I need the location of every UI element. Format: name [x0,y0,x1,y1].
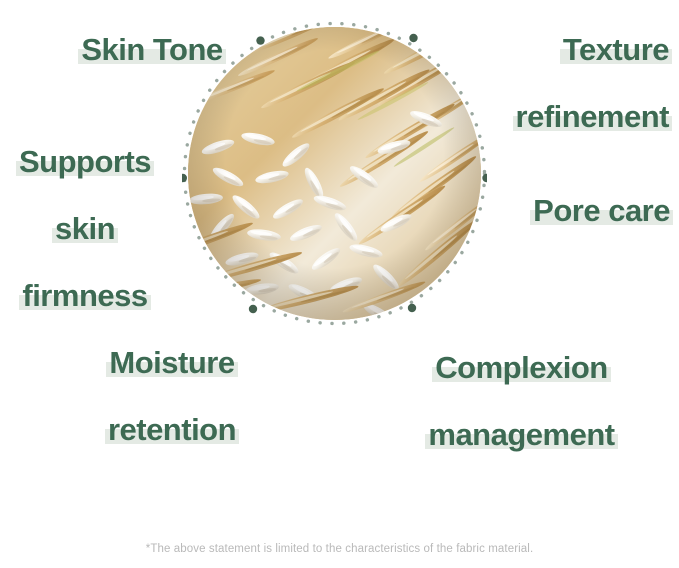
benefit-line: Complexion [432,351,610,384]
benefit-line: Moisture [106,346,237,379]
benefit-label-skin-tone: Skin Tone [52,0,252,100]
benefit-label-moisture-retention: Moisture retention [80,313,264,480]
benefit-label-pore-care: Pore care [470,161,673,261]
benefit-label-complexion-management: Complexion management [405,318,638,485]
benefit-line: retention [105,413,239,446]
benefit-line: Texture [560,33,672,66]
benefit-line: Supports [16,145,154,178]
benefit-line: Pore care [530,194,673,227]
benefit-label-supports-skin-firmness: Supports skin firmness [0,112,170,346]
benefit-line: skin [52,212,118,245]
benefit-line: refinement [513,100,672,133]
footnote-disclaimer: *The above statement is limited to the c… [0,543,679,555]
infographic-canvas: Skin Tone Texture refinement Supports sk… [0,0,679,568]
benefit-label-texture-refinement: Texture refinement [410,0,672,167]
benefit-line: firmness [19,279,150,312]
benefit-line: management [425,418,617,451]
benefit-line: Skin Tone [78,33,225,66]
